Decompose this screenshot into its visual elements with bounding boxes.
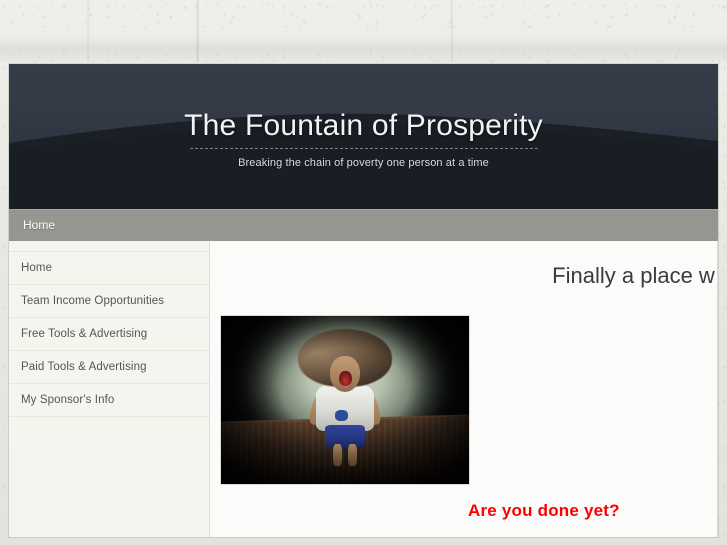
nav-item-home[interactable]: Home [9,210,69,241]
sidebar-item-team-income-opportunities[interactable]: Team Income Opportunities [9,285,209,318]
title-divider [190,148,538,149]
hero-block [210,315,717,485]
site-title: The Fountain of Prosperity [9,64,718,143]
photo-vignette [221,316,469,484]
sidebar-item-my-sponsors-info[interactable]: My Sponsor's Info [9,384,209,417]
sidebar-menu: Home Team Income Opportunities Free Tool… [9,241,210,537]
site-banner: The Fountain of Prosperity Breaking the … [9,64,718,209]
hero-photo-screaming-child [220,315,470,485]
banner-text-block: The Fountain of Prosperity Breaking the … [9,64,718,169]
site-tagline: Breaking the chain of poverty one person… [9,149,718,169]
site-wrapper: The Fountain of Prosperity Breaking the … [9,64,718,537]
page-columns: Home Team Income Opportunities Free Tool… [9,241,718,537]
main-content: Finally a place w [210,241,718,537]
sidebar-item-paid-tools-advertising[interactable]: Paid Tools & Advertising [9,351,209,384]
content-heading: Finally a place w [210,241,717,289]
cta-text: Are you done yet? [210,485,717,521]
top-navigation-bar[interactable]: Home [9,209,718,241]
sidebar-item-home[interactable]: Home [9,251,209,285]
sidebar-item-free-tools-advertising[interactable]: Free Tools & Advertising [9,318,209,351]
